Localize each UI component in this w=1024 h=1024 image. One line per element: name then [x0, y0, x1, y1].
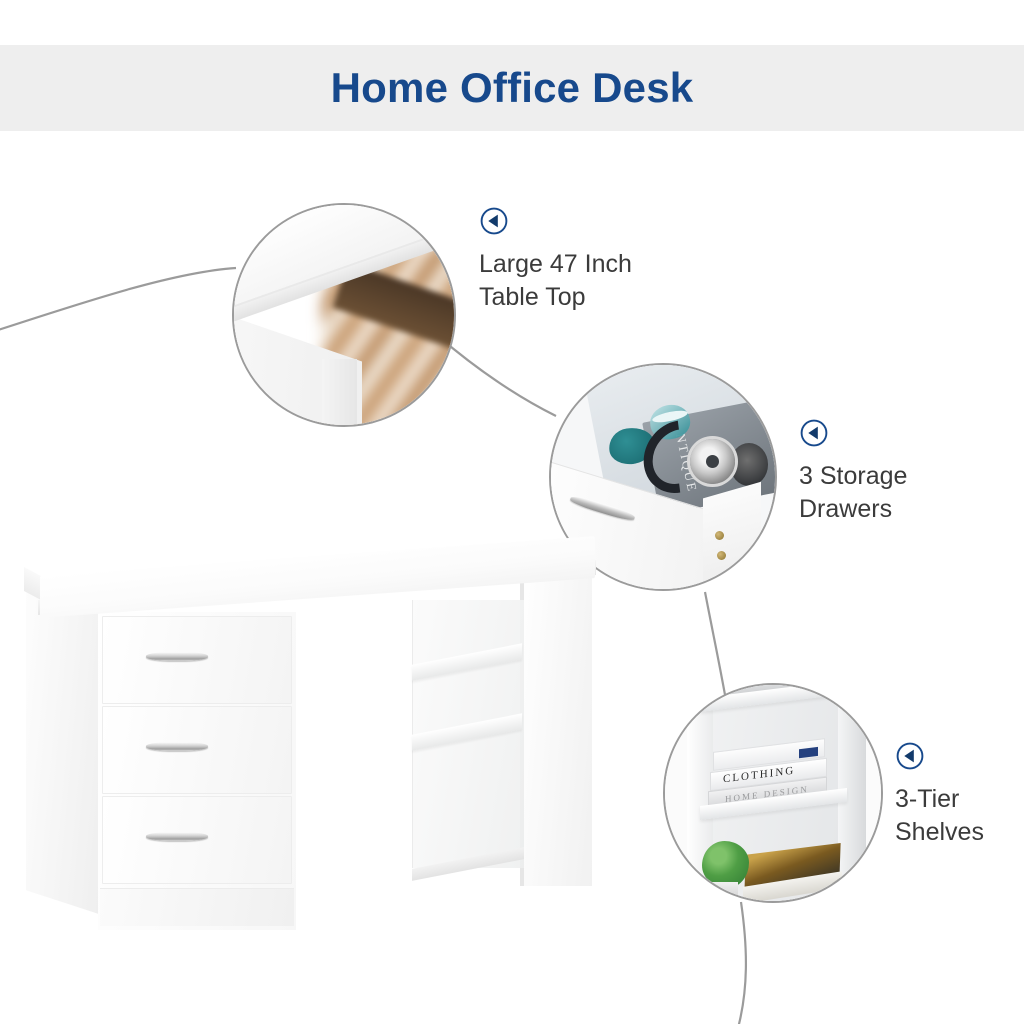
shelves-photo: CLOTHING HOME DESIGN — [665, 685, 881, 901]
product-image-desk — [14, 528, 614, 948]
callout-table-top: Large 47 Inch Table Top — [479, 206, 632, 314]
infographic-canvas: Home Office Desk NTIQUE — [0, 0, 1024, 1024]
desk-drawer-pull-1 — [146, 652, 208, 661]
arrow-left-circle-icon — [799, 418, 829, 448]
callout-tier-shelves: 3-Tier Shelves — [895, 741, 984, 849]
callout-tier-shelves-text: 3-Tier Shelves — [895, 783, 984, 849]
arrow-left-circle-icon — [479, 206, 509, 236]
desk-drawer-pull-3 — [146, 832, 208, 841]
table-top-photo — [234, 205, 454, 425]
callout-storage-drawers-text: 3 Storage Drawers — [799, 460, 907, 526]
callout-storage-drawers: 3 Storage Drawers — [799, 418, 907, 526]
callout-table-top-text: Large 47 Inch Table Top — [479, 248, 632, 314]
arrow-left-circle-icon — [895, 741, 925, 771]
desk-drawer-pull-2 — [146, 742, 208, 751]
detail-bubble-table-top — [232, 203, 456, 427]
desk-right-side-panel — [520, 568, 592, 886]
detail-bubble-shelves: CLOTHING HOME DESIGN — [663, 683, 883, 903]
